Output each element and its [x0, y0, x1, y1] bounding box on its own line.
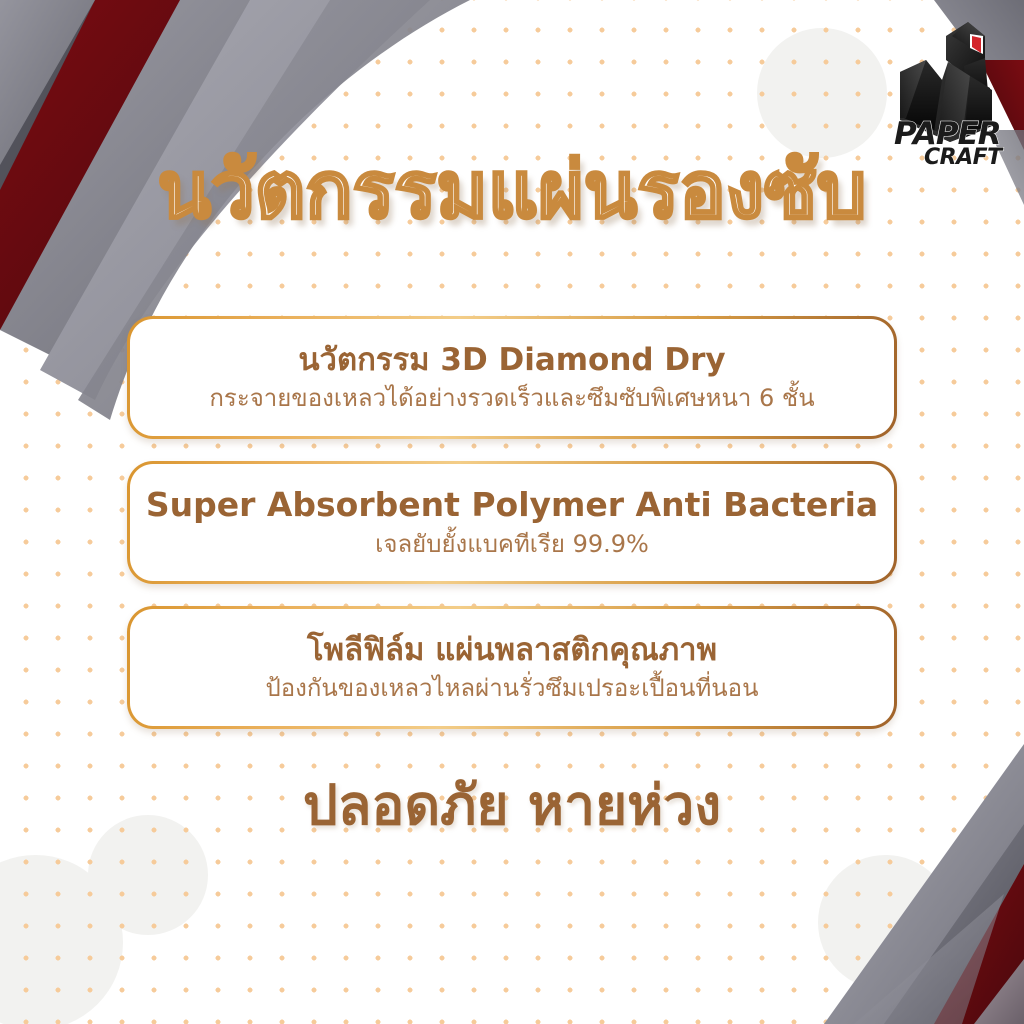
page-title: นวัตกรรมแผ่นรองซับ [158, 152, 867, 230]
feature-card-title: นวัตกรรม 3D Diamond Dry [298, 343, 725, 378]
feature-card-list: นวัตกรรม 3D Diamond Dry กระจายของเหลวได้… [127, 316, 897, 751]
corner-decoration-bottom-right [704, 704, 1024, 1024]
feature-card-subtitle: กระจายของเหลวได้อย่างรวดเร็วและซึมซับพิเ… [209, 385, 814, 412]
poster-canvas: PAPER CRAFT นวัตกรรมแผ่นรองซับ นวัตกรรม … [0, 0, 1024, 1024]
feature-card-subtitle: เจลยับยั้งแบคทีเรีย 99.9% [375, 531, 649, 558]
slogan-text: ปลอดภัย หายห่วง [303, 775, 721, 836]
feature-card-title: Super Absorbent Polymer Anti Bacteria [146, 487, 878, 524]
feature-card: Super Absorbent Polymer Anti Bacteria เจ… [127, 461, 897, 584]
brand-logo: PAPER CRAFT [884, 14, 1010, 166]
feature-card: นวัตกรรม 3D Diamond Dry กระจายของเหลวได้… [127, 316, 897, 439]
slogan-container: ปลอดภัย หายห่วง [0, 775, 1024, 836]
feature-card-subtitle: ป้องกันของเหลวไหลผ่านรั่วซึมเปรอะเปื้อนท… [265, 675, 758, 702]
headline-container: นวัตกรรมแผ่นรองซับ [0, 152, 1024, 230]
feature-card: โพลีฟิล์ม แผ่นพลาสติกคุณภาพ ป้องกันของเห… [127, 606, 897, 729]
feature-card-title: โพลีฟิล์ม แผ่นพลาสติกคุณภาพ [307, 633, 717, 668]
